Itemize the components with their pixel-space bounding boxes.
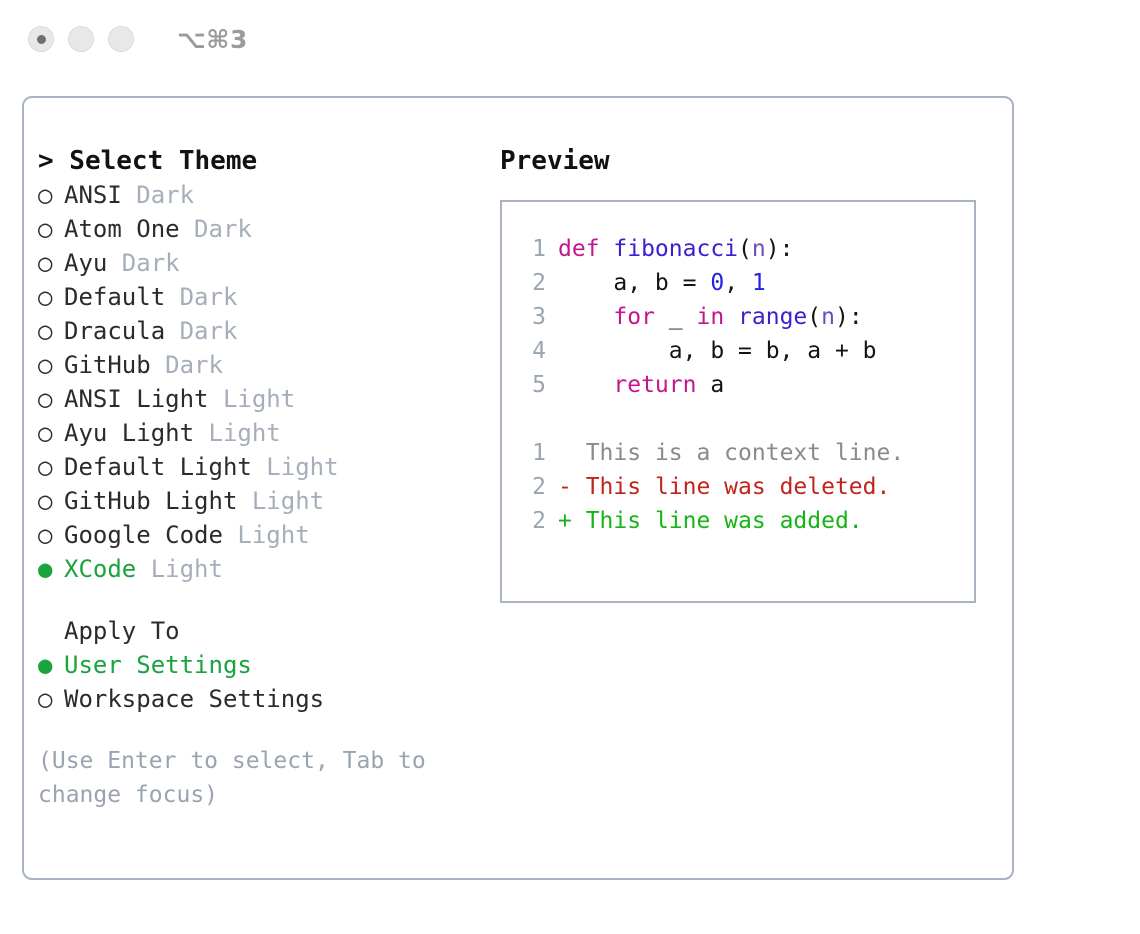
code-token: fibonacci xyxy=(613,236,738,262)
code-token xyxy=(558,372,613,398)
code-token: a, b = xyxy=(558,270,710,296)
theme-variant-badge: Light xyxy=(252,453,339,481)
diff-text: This line was added. xyxy=(586,508,863,534)
select-theme-header: > Select Theme xyxy=(38,144,508,178)
code-token: for xyxy=(613,304,668,330)
theme-option-ayu-light[interactable]: ○Ayu Light Light xyxy=(38,416,508,450)
radio-unselected-icon: ○ xyxy=(38,246,64,280)
theme-variant-badge: Dark xyxy=(107,249,179,277)
line-number: 1 xyxy=(520,436,546,470)
code-token: return xyxy=(613,372,710,398)
theme-variant-badge: Light xyxy=(223,521,310,549)
theme-variant-badge: Light xyxy=(237,487,324,515)
theme-name: Default Light xyxy=(64,453,252,481)
theme-variant-badge: Dark xyxy=(180,215,252,243)
theme-option-default-light[interactable]: ○Default Light Light xyxy=(38,450,508,484)
radio-unselected-icon: ○ xyxy=(38,682,64,716)
apply-to-option-user-settings[interactable]: ●User Settings xyxy=(38,648,508,682)
code-token: n xyxy=(752,236,766,262)
theme-option-ayu[interactable]: ○Ayu Dark xyxy=(38,246,508,280)
radio-unselected-icon: ○ xyxy=(38,178,64,212)
code-line: 4 a, b = b, a + b xyxy=(502,334,974,368)
window-dot-3[interactable] xyxy=(108,26,134,52)
diff-preview: 1 This is a context line.2- This line wa… xyxy=(502,436,974,538)
keyboard-shortcut-label: ⌥⌘3 xyxy=(177,25,248,54)
apply-to-option-label: Workspace Settings xyxy=(64,685,324,713)
radio-unselected-icon: ○ xyxy=(38,450,64,484)
diff-line: 2- This line was deleted. xyxy=(502,470,974,504)
theme-variant-badge: Dark xyxy=(151,351,223,379)
radio-unselected-icon: ○ xyxy=(38,280,64,314)
diff-sign: - xyxy=(558,474,586,500)
diff-sign xyxy=(558,440,586,466)
radio-unselected-icon: ○ xyxy=(38,212,64,246)
diff-line: 2+ This line was added. xyxy=(502,504,974,538)
line-number: 2 xyxy=(520,470,546,504)
theme-name: Default xyxy=(64,283,165,311)
theme-variant-badge: Light xyxy=(136,555,223,583)
theme-name: GitHub xyxy=(64,351,151,379)
window-titlebar: ⌥⌘3 xyxy=(0,0,1140,78)
theme-selector-column: > Select Theme ○ANSI Dark○Atom One Dark○… xyxy=(38,144,508,812)
theme-option-atom-one[interactable]: ○Atom One Dark xyxy=(38,212,508,246)
diff-text: This is a context line. xyxy=(586,440,905,466)
code-token: ): xyxy=(835,304,863,330)
code-token: ): xyxy=(766,236,794,262)
apply-to-label: Apply To xyxy=(38,614,508,648)
line-number: 2 xyxy=(520,266,546,300)
window-dot-active-fill xyxy=(37,35,46,44)
radio-unselected-icon: ○ xyxy=(38,416,64,450)
theme-name: Atom One xyxy=(64,215,180,243)
line-number: 5 xyxy=(520,368,546,402)
code-token: 1 xyxy=(752,270,766,296)
radio-selected-icon: ● xyxy=(38,552,64,586)
spacer xyxy=(502,402,974,436)
theme-option-github[interactable]: ○GitHub Dark xyxy=(38,348,508,382)
theme-name: XCode xyxy=(64,555,136,583)
theme-name: Dracula xyxy=(64,317,165,345)
theme-variant-badge: Dark xyxy=(165,317,237,345)
theme-name: Google Code xyxy=(64,521,223,549)
app-window: ⌥⌘3 > Select Theme ○ANSI Dark○Atom One D… xyxy=(0,0,1140,934)
theme-option-xcode[interactable]: ●XCode Light xyxy=(38,552,508,586)
theme-option-google-code[interactable]: ○Google Code Light xyxy=(38,518,508,552)
theme-variant-badge: Dark xyxy=(165,283,237,311)
preview-header: Preview xyxy=(500,144,1000,178)
code-token: range xyxy=(738,304,807,330)
spacer xyxy=(38,586,508,614)
theme-name: ANSI xyxy=(64,181,122,209)
radio-unselected-icon: ○ xyxy=(38,382,64,416)
line-number: 4 xyxy=(520,334,546,368)
theme-variant-badge: Dark xyxy=(122,181,194,209)
code-preview: 1def fibonacci(n):2 a, b = 0, 13 for _ i… xyxy=(502,232,974,402)
code-token xyxy=(558,304,613,330)
code-token: def xyxy=(558,236,613,262)
code-token: 0 xyxy=(710,270,724,296)
window-dot-2[interactable] xyxy=(68,26,94,52)
code-token: _ xyxy=(669,304,697,330)
code-token: n xyxy=(821,304,835,330)
radio-unselected-icon: ○ xyxy=(38,484,64,518)
panel-columns: > Select Theme ○ANSI Dark○Atom One Dark○… xyxy=(24,98,1012,878)
theme-option-dracula[interactable]: ○Dracula Dark xyxy=(38,314,508,348)
preview-column: Preview 1def fibonacci(n):2 a, b = 0, 13… xyxy=(500,144,1000,603)
code-token: a, b = b, a + b xyxy=(558,338,877,364)
window-dot-active[interactable] xyxy=(28,26,54,52)
main-panel: > Select Theme ○ANSI Dark○Atom One Dark○… xyxy=(22,96,1014,880)
radio-selected-icon: ● xyxy=(38,648,64,682)
code-line: 3 for _ in range(n): xyxy=(502,300,974,334)
theme-name: GitHub Light xyxy=(64,487,237,515)
theme-list[interactable]: ○ANSI Dark○Atom One Dark○Ayu Dark○Defaul… xyxy=(38,178,508,586)
theme-name: Ayu xyxy=(64,249,107,277)
theme-option-ansi-light[interactable]: ○ANSI Light Light xyxy=(38,382,508,416)
radio-unselected-icon: ○ xyxy=(38,518,64,552)
code-token: ( xyxy=(738,236,752,262)
code-line: 1def fibonacci(n): xyxy=(502,232,974,266)
theme-name: Ayu Light xyxy=(64,419,194,447)
code-line: 5 return a xyxy=(502,368,974,402)
apply-to-option-label: User Settings xyxy=(64,651,252,679)
theme-option-github-light[interactable]: ○GitHub Light Light xyxy=(38,484,508,518)
theme-variant-badge: Light xyxy=(194,419,281,447)
code-line: 2 a, b = 0, 1 xyxy=(502,266,974,300)
line-number: 1 xyxy=(520,232,546,266)
apply-to-list[interactable]: ●User Settings○Workspace Settings xyxy=(38,648,508,716)
code-token: in xyxy=(696,304,738,330)
code-token: , xyxy=(724,270,752,296)
spacer xyxy=(38,716,508,744)
theme-name: ANSI Light xyxy=(64,385,209,413)
code-token: a xyxy=(710,372,724,398)
line-number: 3 xyxy=(520,300,546,334)
apply-to-option-workspace-settings[interactable]: ○Workspace Settings xyxy=(38,682,508,716)
radio-unselected-icon: ○ xyxy=(38,314,64,348)
line-number: 2 xyxy=(520,504,546,538)
theme-variant-badge: Light xyxy=(209,385,296,413)
diff-line: 1 This is a context line. xyxy=(502,436,974,470)
diff-sign: + xyxy=(558,508,586,534)
code-token: ( xyxy=(807,304,821,330)
diff-text: This line was deleted. xyxy=(586,474,891,500)
keyboard-hint: (Use Enter to select, Tab to change focu… xyxy=(38,744,458,812)
radio-unselected-icon: ○ xyxy=(38,348,64,382)
preview-box: 1def fibonacci(n):2 a, b = 0, 13 for _ i… xyxy=(500,200,976,603)
theme-option-default[interactable]: ○Default Dark xyxy=(38,280,508,314)
theme-option-ansi[interactable]: ○ANSI Dark xyxy=(38,178,508,212)
